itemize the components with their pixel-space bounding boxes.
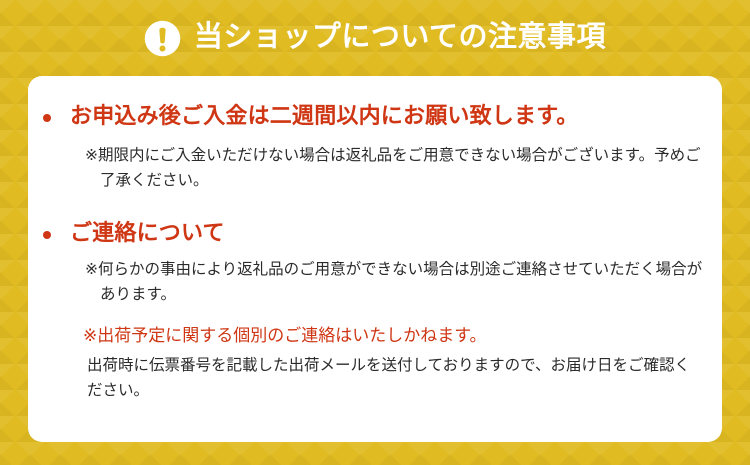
banner-header: 当ショップについての注意事項 (0, 14, 750, 62)
notice-warning-detail: 出荷時に伝票番号を記載した出荷メールを送付しておりますので、お届け日をご確認くだ… (70, 353, 704, 403)
notice-warning: ※出荷予定に関する個別のご連絡はいたしかねます。 (70, 324, 704, 349)
bullet-dot-icon (43, 114, 51, 122)
bullet-dot-icon (43, 231, 51, 239)
notice-item-contact: ご連絡について ※何らかの事由により返礼品のご用意ができない場合は別途ご連絡させ… (28, 219, 704, 404)
exclamation-circle-icon (144, 20, 181, 57)
notice-note: ※期限内にご入金いただけない場合は返礼品をご用意できない場合がございます。予めご… (70, 143, 704, 193)
banner-title: 当ショップについての注意事項 (194, 23, 606, 52)
notice-list: お申込み後ご入金は二週間以内にお願い致します。 ※期限内にご入金いただけない場合… (28, 102, 704, 403)
notice-banner: 当ショップについての注意事項 お申込み後ご入金は二週間以内にお願い致します。 ※… (0, 0, 750, 465)
notice-heading: ご連絡について (70, 219, 704, 247)
notice-item-payment: お申込み後ご入金は二週間以内にお願い致します。 ※期限内にご入金いただけない場合… (28, 102, 704, 193)
notice-note: ※何らかの事由により返礼品のご用意ができない場合は別途ご連絡させていただく場合が… (70, 257, 704, 307)
notice-heading: お申込み後ご入金は二週間以内にお願い致します。 (70, 102, 704, 130)
notice-card: お申込み後ご入金は二週間以内にお願い致します。 ※期限内にご入金いただけない場合… (28, 76, 722, 442)
